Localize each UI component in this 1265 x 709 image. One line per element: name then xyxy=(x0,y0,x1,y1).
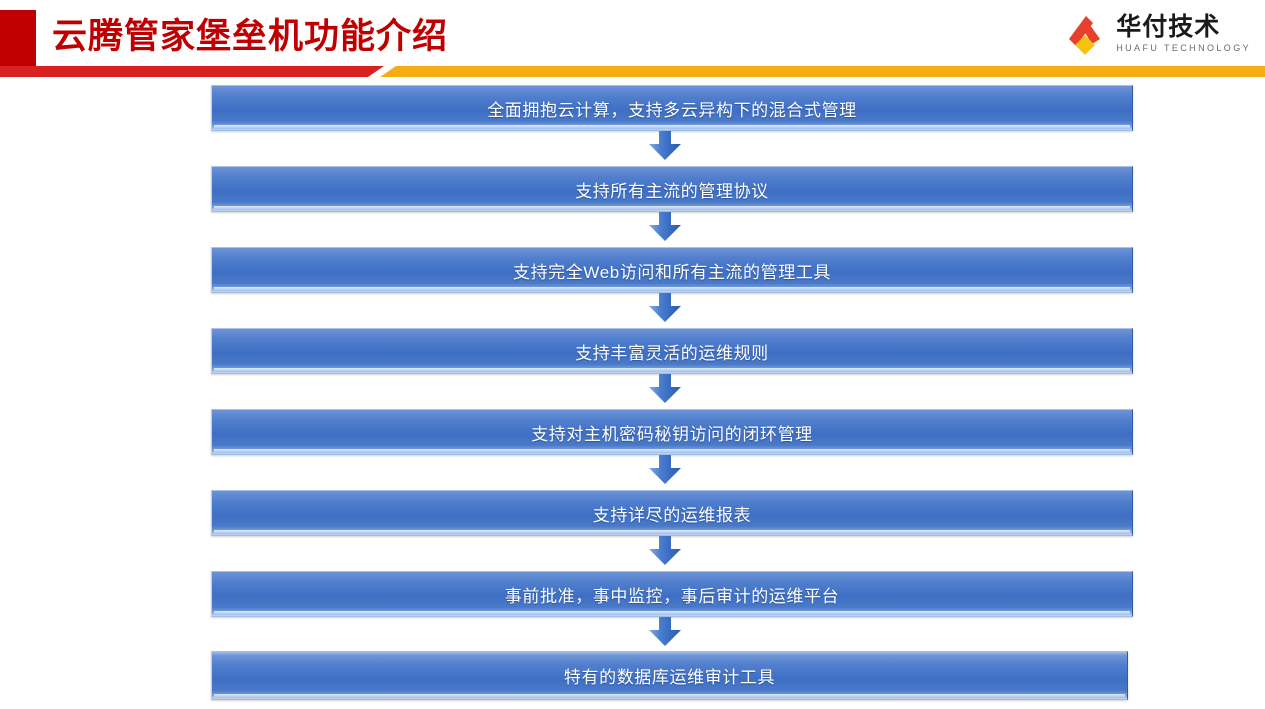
flow-arrow-4-icon xyxy=(648,374,682,404)
flowchart: 全面拥抱云计算，支持多云异构下的混合式管理 支持所有主流的管理协议 支持完全We… xyxy=(0,78,1265,709)
logo-name-cn: 华付技术 xyxy=(1116,14,1251,41)
header-red-accent-block xyxy=(0,10,36,67)
header-stripe-yellow xyxy=(380,66,1265,77)
flow-step-5[interactable]: 支持对主机密码秘钥访问的闭环管理 xyxy=(211,409,1133,455)
flow-step-label: 支持所有主流的管理协议 xyxy=(575,177,769,202)
flow-step-label: 支持丰富灵活的运维规则 xyxy=(575,339,769,364)
company-logo: 华付技术 HUAFU TECHNOLOGY xyxy=(1062,10,1251,58)
logo-mark-icon xyxy=(1062,13,1108,55)
flow-step-label: 支持对主机密码秘钥访问的闭环管理 xyxy=(531,420,813,445)
flow-step-4[interactable]: 支持丰富灵活的运维规则 xyxy=(211,328,1133,374)
flow-arrow-6-icon xyxy=(648,536,682,566)
flow-arrow-5-icon xyxy=(648,455,682,485)
flow-step-label: 特有的数据库运维审计工具 xyxy=(564,663,775,688)
flow-step-8[interactable]: 特有的数据库运维审计工具 xyxy=(211,651,1128,700)
flow-step-6[interactable]: 支持详尽的运维报表 xyxy=(211,490,1133,536)
flow-step-7[interactable]: 事前批准，事中监控，事后审计的运维平台 xyxy=(211,571,1133,617)
header-stripe-red xyxy=(0,66,400,77)
flow-step-1[interactable]: 全面拥抱云计算，支持多云异构下的混合式管理 xyxy=(211,85,1133,131)
flow-arrow-3-icon xyxy=(648,293,682,323)
logo-text: 华付技术 HUAFU TECHNOLOGY xyxy=(1116,14,1251,54)
logo-name-en: HUAFU TECHNOLOGY xyxy=(1116,42,1251,54)
flow-step-label: 全面拥抱云计算，支持多云异构下的混合式管理 xyxy=(487,96,857,121)
flow-arrow-7-icon xyxy=(648,617,682,647)
flow-step-label: 支持完全Web访问和所有主流的管理工具 xyxy=(513,258,831,283)
slide-header: 云腾管家堡垒机功能介绍 华付技术 HUAFU TECHNOLOGY xyxy=(0,0,1265,78)
flow-step-2[interactable]: 支持所有主流的管理协议 xyxy=(211,166,1133,212)
flow-step-3[interactable]: 支持完全Web访问和所有主流的管理工具 xyxy=(211,247,1133,293)
header-stripe-red-left-cap xyxy=(0,66,36,77)
flow-arrow-1-icon xyxy=(648,131,682,161)
flow-step-label: 支持详尽的运维报表 xyxy=(593,501,751,526)
flow-step-label: 事前批准，事中监控，事后审计的运维平台 xyxy=(505,582,839,607)
flow-arrow-2-icon xyxy=(648,212,682,242)
page-title: 云腾管家堡垒机功能介绍 xyxy=(52,12,448,62)
